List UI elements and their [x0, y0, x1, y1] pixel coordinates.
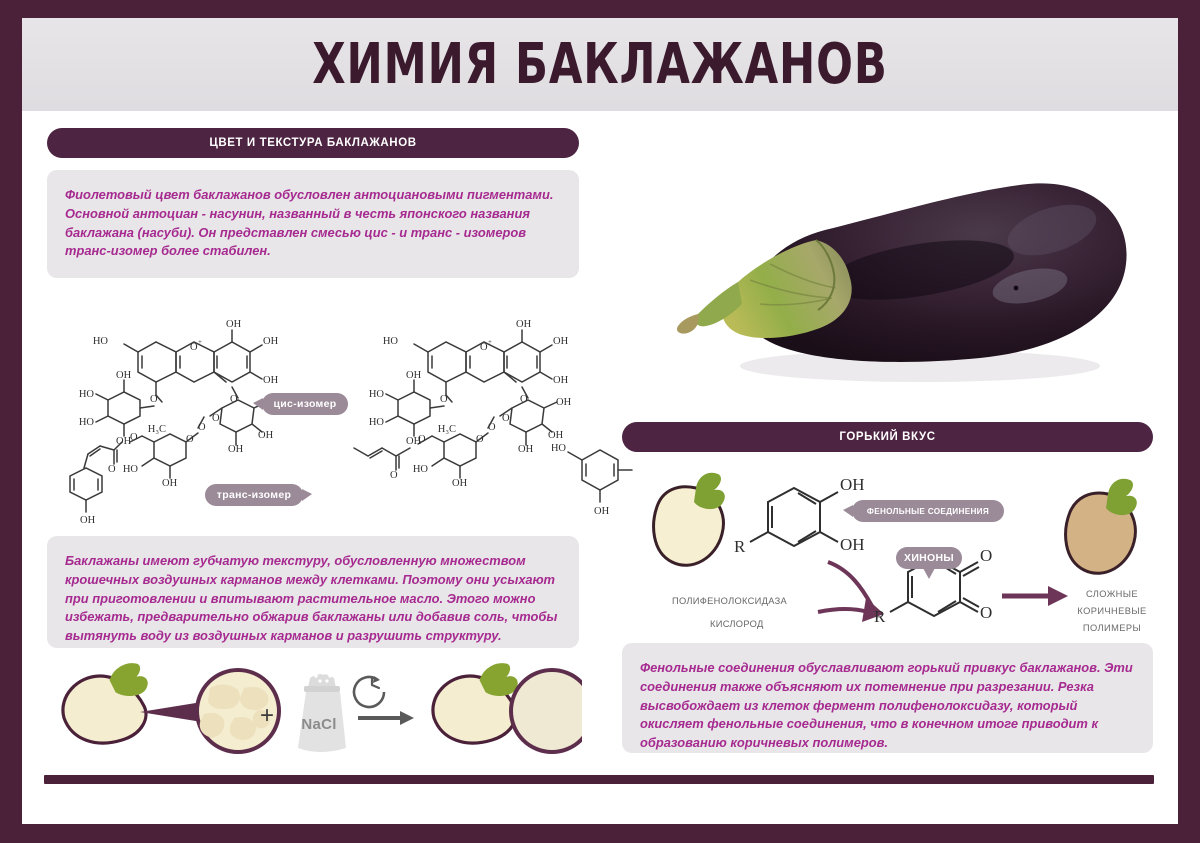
section-banner-color-texture: ЦВЕТ И ТЕКСТУРА БАКЛАЖАНОВ — [47, 128, 579, 158]
label-polymer-line1: СЛОЖНЫЕ — [1057, 589, 1167, 599]
atom-label-r: R — [874, 607, 886, 626]
paragraph-texture: Баклажаны имеют губчатую текстуру, обусл… — [47, 536, 579, 648]
svg-text:OH: OH — [594, 506, 610, 517]
svg-text:OH: OH — [406, 370, 422, 381]
svg-text:O: O — [502, 413, 510, 424]
callout-tail-icon — [923, 568, 935, 579]
svg-text:HO: HO — [383, 336, 399, 347]
salt-label: NaCl — [284, 716, 354, 733]
svg-text:OH: OH — [452, 478, 468, 489]
svg-text:OH: OH — [556, 397, 572, 408]
svg-text:O: O — [390, 470, 398, 481]
atom-label-oh: OH — [228, 444, 244, 455]
callout-label: цис-изомер — [274, 398, 337, 410]
svg-text:O: O — [520, 394, 528, 405]
atom-label-o: O — [108, 464, 116, 475]
arrow-right-icon — [358, 711, 414, 725]
clock-icon — [354, 676, 384, 707]
eggplant-outline-icon — [63, 664, 147, 743]
section-banner-bitter: ГОРЬКИЙ ВКУС — [622, 422, 1153, 452]
eggplant-photo-image — [620, 118, 1154, 408]
eggplant-outline-icon — [433, 664, 517, 743]
svg-text:OH: OH — [516, 319, 532, 330]
callout-tail-icon — [302, 489, 312, 501]
eggplant-pale-icon — [654, 473, 725, 565]
paragraph-bitter: Фенольные соединения обуславливают горьк… — [622, 643, 1153, 753]
callout-quinones: ХИНОНЫ — [896, 547, 962, 569]
atom-label-oh: OH — [116, 370, 132, 381]
atom-label-o: O — [150, 394, 158, 405]
atom-label-o: O — [980, 603, 992, 622]
label-oxygen: КИСЛОРОД — [710, 619, 764, 629]
label-polymer-line3: ПОЛИМЕРЫ — [1057, 623, 1167, 633]
label-polymer-line2: КОРИЧНЕВЫЕ — [1057, 606, 1167, 616]
svg-text:H₃C: H₃C — [438, 424, 456, 435]
atom-label-ho: HO — [123, 464, 139, 475]
atom-label-o: O — [198, 422, 206, 433]
atom-label-oh: OH — [263, 375, 279, 386]
callout-tail-icon — [253, 398, 263, 410]
atom-label-ho: HO — [79, 417, 95, 428]
bottom-divider — [44, 775, 1154, 784]
atom-label-o-plus: O — [190, 342, 198, 353]
atom-label-oh: OH — [840, 535, 865, 554]
atom-label-r: R — [734, 537, 746, 556]
svg-text:HO: HO — [552, 443, 566, 454]
callout-trans-isomer: транс-изомер — [205, 484, 303, 506]
svg-text:O: O — [440, 394, 448, 405]
atom-label-o: O — [130, 432, 138, 443]
salting-process-diagram — [52, 656, 582, 760]
atom-label-oh: OH — [263, 336, 279, 347]
atom-label-oh: OH — [258, 430, 274, 441]
eggplant-brown-icon — [1066, 479, 1137, 573]
paragraph-color-anthocyanin: Фиолетовый цвет баклажанов обусловлен ан… — [47, 170, 579, 278]
atom-label-oh: OH — [80, 515, 96, 526]
atom-label-oh: OH — [162, 478, 178, 489]
svg-text:OH: OH — [553, 375, 569, 386]
page-title: ХИМИЯ БАКЛАЖАНОВ — [103, 32, 1097, 97]
callout-tail-icon — [843, 505, 853, 517]
atom-label-ho: HO — [79, 389, 95, 400]
atom-label-o: O — [980, 546, 992, 565]
collapsed-cell-icon — [511, 670, 582, 752]
plus-symbol: + — [260, 702, 274, 730]
callout-label: ФЕНОЛЬНЫЕ СОЕДИНЕНИЯ — [867, 507, 989, 516]
atom-label-oh: OH — [840, 475, 865, 494]
label-polyphenol-oxidase: ПОЛИФЕНОЛОКСИДАЗА — [672, 596, 787, 606]
callout-phenolic-compounds: ФЕНОЛЬНЫЕ СОЕДИНЕНИЯ — [852, 500, 1004, 522]
callout-label: ХИНОНЫ — [904, 552, 954, 564]
atom-label-o: O — [212, 413, 220, 424]
salt-shaker-icon — [298, 671, 346, 752]
svg-text:HO: HO — [369, 389, 385, 400]
svg-text:O: O — [476, 434, 484, 445]
eggplant-photo — [620, 118, 1154, 408]
svg-text:+: + — [488, 338, 492, 346]
atom-label-h3c: H₃C — [148, 424, 166, 435]
svg-text:O: O — [488, 422, 496, 433]
svg-text:OH: OH — [518, 444, 534, 455]
svg-text:HO: HO — [369, 417, 385, 428]
callout-cis-isomer: цис-изомер — [262, 393, 348, 415]
svg-text:O: O — [418, 434, 426, 445]
svg-text:HO: HO — [413, 464, 429, 475]
callout-label: транс-изомер — [217, 489, 291, 501]
svg-text:O: O — [480, 342, 488, 353]
poster-canvas: ХИМИЯ БАКЛАЖАНОВ ЦВЕТ И ТЕКСТУРА БАКЛАЖА… — [22, 18, 1178, 824]
svg-text:+: + — [198, 338, 202, 346]
atom-label-ho: HO — [93, 336, 109, 347]
atom-label-oh: OH — [226, 319, 242, 330]
svg-text:OH: OH — [553, 336, 569, 347]
atom-label-o: O — [230, 394, 238, 405]
atom-label-o: O — [186, 434, 194, 445]
